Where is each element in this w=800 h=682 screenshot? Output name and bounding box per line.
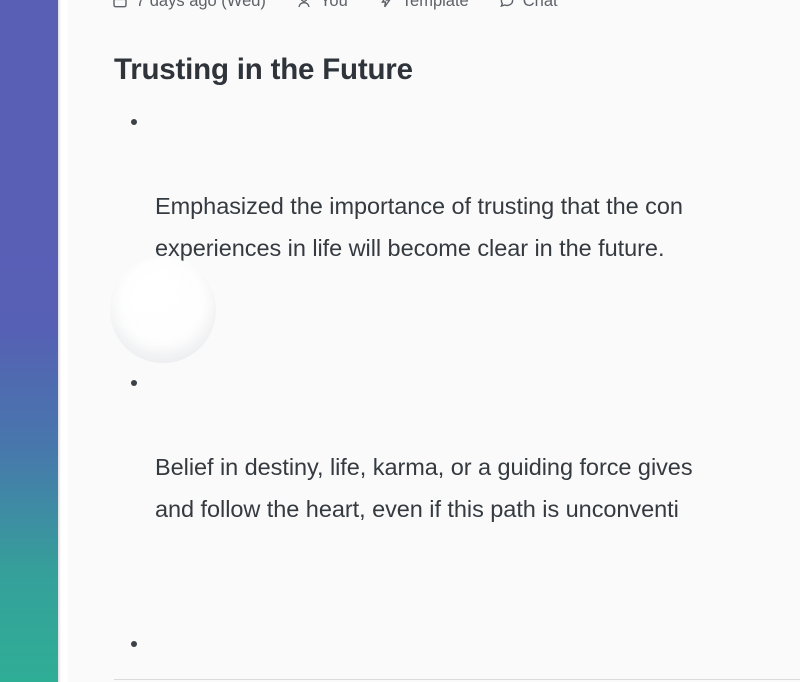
meta-item-date[interactable]: 7 days ago (Wed): [112, 0, 266, 11]
document-card: 7 days ago (Wed) You Template: [68, 0, 800, 682]
bullet-list-trusting-in-the-future: Emphasized the importance of trusting th…: [114, 102, 800, 682]
list-item: Belief in destiny, life, karma, or a gui…: [114, 363, 800, 614]
meta-date-label: 7 days ago (Wed): [136, 0, 266, 11]
list-item: Emphasized the importance of trusting th…: [114, 102, 800, 353]
meta-template-label: Template: [402, 0, 469, 11]
list-item-text: Belief in destiny, life, karma, or a gui…: [155, 447, 800, 531]
document-meta-bar: 7 days ago (Wed) You Template: [68, 0, 800, 15]
content-bottom-divider: [114, 679, 800, 680]
calendar-icon: [112, 0, 128, 9]
sidebar-edge-shadow: [58, 0, 61, 682]
app-root: 7 days ago (Wed) You Template: [0, 0, 800, 682]
section-heading-trusting-in-the-future: Trusting in the Future: [114, 54, 800, 86]
meta-item-chat[interactable]: Chat: [499, 0, 558, 11]
template-icon: [378, 0, 394, 9]
document-body: Trusting in the Future Emphasized the im…: [68, 22, 800, 682]
chat-icon: [499, 0, 515, 9]
meta-author-label: You: [320, 0, 348, 11]
meta-chat-label: Chat: [523, 0, 558, 11]
sidebar-gradient-rail[interactable]: [0, 0, 58, 682]
person-icon: [296, 0, 312, 9]
list-item: Trusting this process can lead to transf…: [114, 624, 800, 682]
meta-item-author[interactable]: You: [296, 0, 348, 11]
list-item-text: Emphasized the importance of trusting th…: [155, 186, 800, 270]
meta-item-template[interactable]: Template: [378, 0, 469, 11]
